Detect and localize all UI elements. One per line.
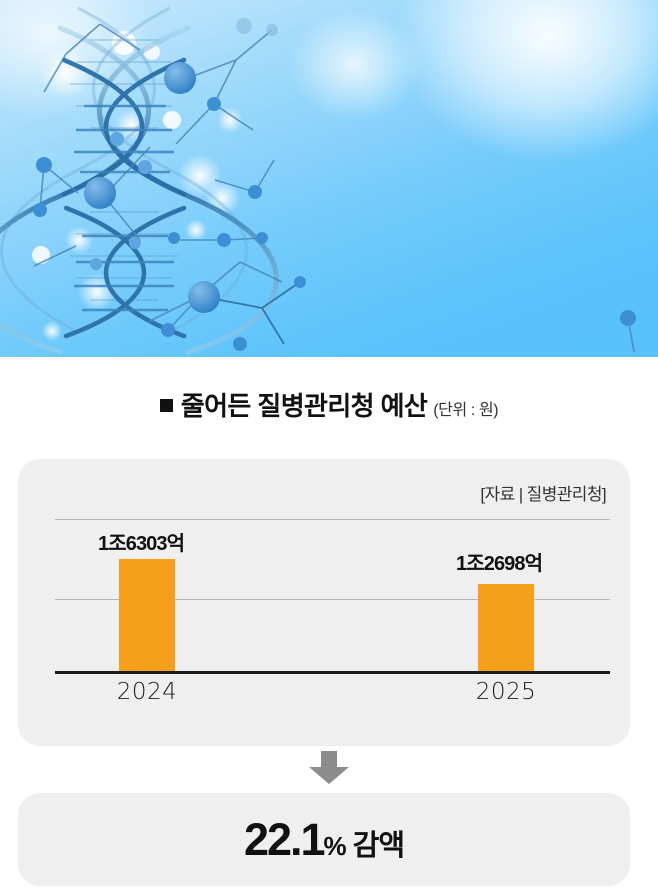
title-unit-text: (단위 : 원) xyxy=(433,402,498,419)
summary-percent-sign: % xyxy=(324,831,346,861)
source-label: [자료 | 질병관리청] xyxy=(480,480,606,505)
category-label-2024: 2024 xyxy=(92,679,202,705)
bar-2024 xyxy=(119,559,175,671)
summary-word: 감액 xyxy=(353,830,404,862)
summary-panel: 22.1%감액 xyxy=(18,793,630,886)
bar-2025 xyxy=(478,584,534,671)
gridline-top xyxy=(55,519,610,520)
hero-image xyxy=(0,0,658,357)
summary-text: 22.1%감액 xyxy=(244,814,404,866)
down-arrow-icon xyxy=(307,751,351,785)
category-label-2025: 2025 xyxy=(451,679,561,705)
bar-value-2025: 1조2698억 xyxy=(456,547,542,576)
bar-value-2024: 1조6303억 xyxy=(98,527,184,556)
title-main-text: 줄어든 질병관리청 예산 xyxy=(181,391,427,421)
bullet-square-icon xyxy=(160,399,173,412)
summary-number: 22.1 xyxy=(244,814,324,865)
chart-panel: [자료 | 질병관리청] 1조6303억 1조2698억 2024 2025 xyxy=(18,459,630,746)
dna-helix-illustration xyxy=(0,0,658,357)
page-title: 줄어든 질병관리청 예산(단위 : 원) xyxy=(0,386,658,423)
axis-baseline xyxy=(55,671,610,674)
